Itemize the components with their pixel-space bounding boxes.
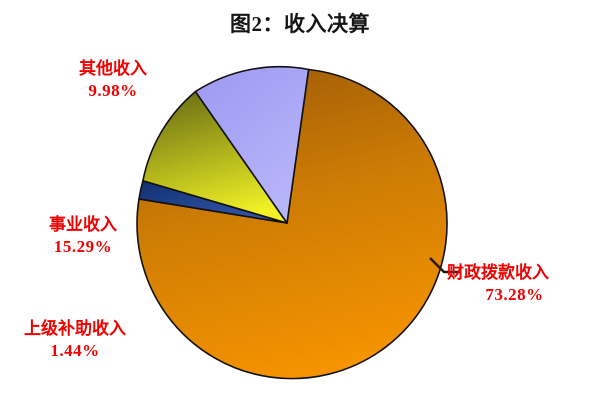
slice-label-other-percent: 9.98%: [52, 80, 174, 102]
slice-label-fiscal-name: 财政拨款收入: [447, 262, 597, 284]
slice-label-subsidy-percent: 1.44%: [2, 340, 148, 362]
slice-label-fiscal-percent: 73.28%: [447, 284, 582, 306]
slice-label-subsidy-name: 上级补助收入: [2, 318, 148, 340]
slice-label-career: 事业收入 15.29%: [22, 214, 144, 259]
slice-label-career-percent: 15.29%: [22, 236, 144, 258]
slice-label-other: 其他收入 9.98%: [52, 58, 174, 103]
slice-label-career-name: 事业收入: [22, 214, 144, 236]
pie-chart-figure: 图2：收入决算: [0, 0, 600, 401]
slice-label-other-name: 其他收入: [52, 58, 174, 80]
slice-label-subsidy: 上级补助收入 1.44%: [2, 318, 148, 363]
slice-label-fiscal: 财政拨款收入 73.28%: [447, 262, 597, 307]
